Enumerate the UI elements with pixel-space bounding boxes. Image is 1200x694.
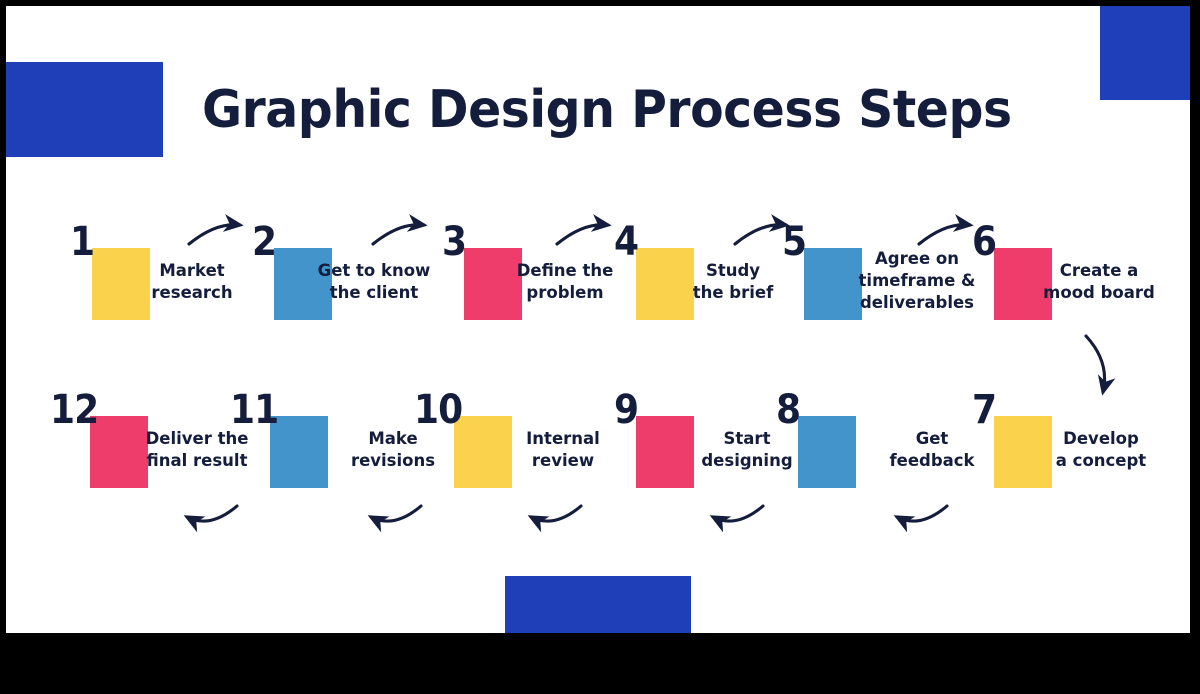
- step-number-2: 2: [252, 222, 276, 262]
- arrow-2-to-3: [373, 225, 424, 244]
- arrow-11-to-10-flow: [371, 506, 421, 521]
- step-label-line: the client: [281, 282, 467, 304]
- step-label-line: designing: [657, 450, 837, 472]
- step-label-4: Study the brief: [653, 260, 813, 304]
- step-number-8: 8: [776, 390, 800, 430]
- arrow-5-to-6: [919, 225, 970, 244]
- arrow-12-to-11-flow: [187, 506, 237, 521]
- step-number-9: 9: [614, 390, 638, 430]
- step-label-line: review: [477, 450, 649, 472]
- step-label-12: Deliver the final result: [103, 428, 291, 472]
- step-label-line: timeframe &: [817, 270, 1017, 292]
- step-label-7: Develop a concept: [1011, 428, 1190, 472]
- step-number-6: 6: [972, 222, 996, 262]
- step-label-line: Get to know: [281, 260, 467, 282]
- step-label-line: mood board: [1009, 282, 1189, 304]
- step-label-3: Define the problem: [475, 260, 655, 304]
- step-label-line: deliverables: [817, 292, 1017, 314]
- arrow-9-to-8-flow: [713, 506, 763, 521]
- step-label-line: problem: [475, 282, 655, 304]
- step-label-9: Start designing: [657, 428, 837, 472]
- step-number-1: 1: [70, 222, 94, 262]
- step-label-line: Deliver the: [103, 428, 291, 450]
- step-label-line: a concept: [1011, 450, 1190, 472]
- step-label-8: Get feedback: [841, 428, 1023, 472]
- step-number-4: 4: [614, 222, 638, 262]
- step-number-3: 3: [442, 222, 466, 262]
- step-label-line: final result: [103, 450, 291, 472]
- step-number-5: 5: [782, 222, 806, 262]
- arrow-6-to-7: [1086, 336, 1105, 392]
- slide: Graphic Design Process Steps: [0, 0, 1200, 694]
- step-number-7: 7: [972, 390, 996, 430]
- arrow-3-to-4: [557, 225, 608, 244]
- arrow-1-to-2: [189, 225, 240, 244]
- step-label-line: feedback: [841, 450, 1023, 472]
- step-label-line: Internal: [477, 428, 649, 450]
- step-label-2: Get to know the client: [281, 260, 467, 304]
- arrow-4-to-5: [735, 225, 786, 244]
- step-number-11: 11: [230, 390, 278, 430]
- step-label-1: Market research: [107, 260, 277, 304]
- step-label-11: Make revisions: [303, 428, 483, 472]
- step-label-line: Make: [303, 428, 483, 450]
- step-label-6: Create a mood board: [1009, 260, 1189, 304]
- step-label-line: research: [107, 282, 277, 304]
- step-label-line: Start: [657, 428, 837, 450]
- slide-canvas: Graphic Design Process Steps: [6, 6, 1190, 633]
- step-label-line: Develop: [1011, 428, 1190, 450]
- step-label-10: Internal review: [477, 428, 649, 472]
- step-number-12: 12: [50, 390, 98, 430]
- step-label-line: Get: [841, 428, 1023, 450]
- arrow-8-to-7-flow: [897, 506, 947, 521]
- step-label-line: Create a: [1009, 260, 1189, 282]
- step-label-line: the brief: [653, 282, 813, 304]
- step-label-line: revisions: [303, 450, 483, 472]
- step-number-10: 10: [414, 390, 462, 430]
- arrow-10-to-9-flow: [531, 506, 581, 521]
